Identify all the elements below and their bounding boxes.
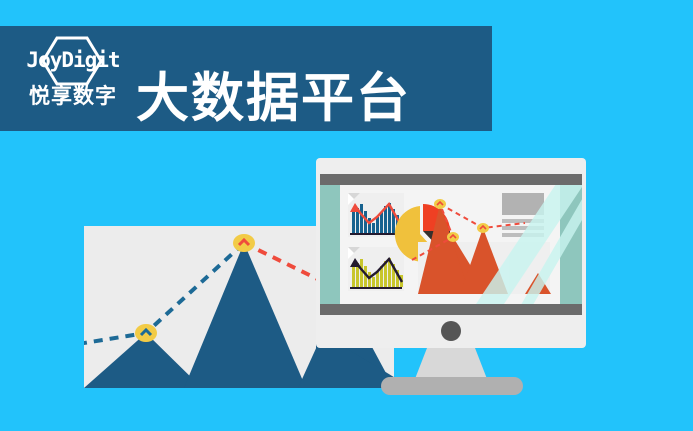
power-indicator-icon bbox=[441, 321, 461, 341]
monitor-bottom-bar bbox=[320, 304, 582, 315]
brand-logo: JoyDigit 悦享数字 bbox=[18, 34, 128, 124]
marker-peak-right bbox=[477, 223, 489, 233]
screen-content bbox=[320, 185, 582, 304]
logo-wordmark: JoyDigit bbox=[18, 50, 128, 71]
bar-chart-card-olive bbox=[348, 247, 404, 291]
illustration-canvas: JoyDigit 悦享数字 大数据平台 bbox=[0, 0, 693, 431]
marker-peak-center bbox=[434, 199, 446, 209]
marker-point-1 bbox=[135, 324, 157, 342]
page-title: 大数据平台 bbox=[136, 72, 411, 125]
monitor-screen bbox=[320, 185, 582, 304]
monitor-base bbox=[381, 377, 523, 395]
marker-point-2 bbox=[233, 234, 255, 252]
marker-peak-left bbox=[447, 232, 459, 242]
monitor-top-bar bbox=[320, 174, 582, 185]
monitor bbox=[316, 158, 586, 383]
logo-subtitle: 悦享数字 bbox=[18, 86, 128, 107]
header-banner: JoyDigit 悦享数字 大数据平台 bbox=[0, 26, 492, 131]
